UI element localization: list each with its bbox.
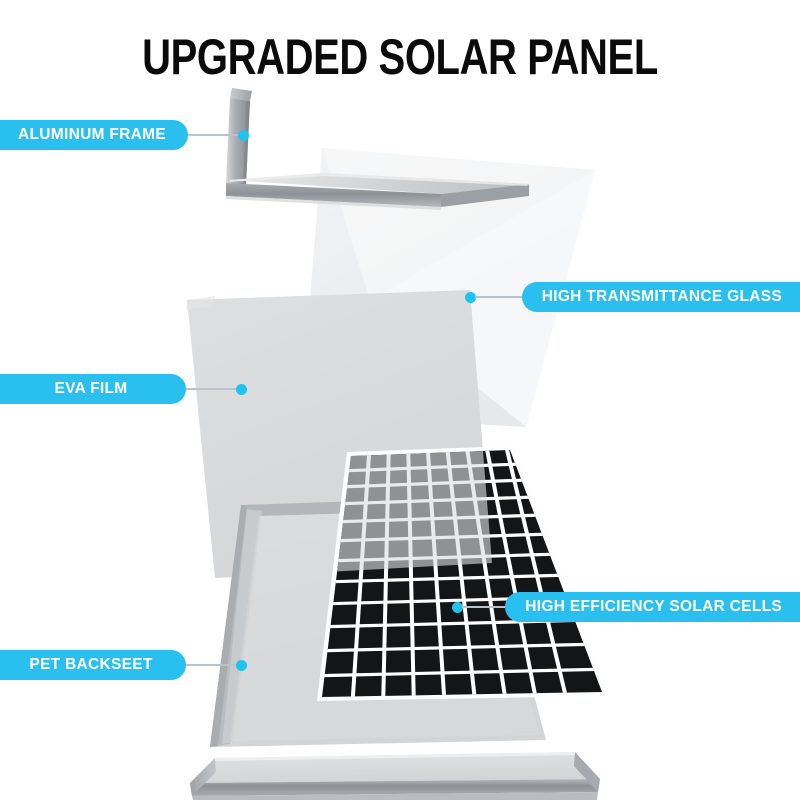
callout-label-high-transmittance-glass[interactable]: HIGH TRANSMITTANCE GLASS: [522, 282, 800, 312]
callout-connector-line: [462, 606, 505, 608]
callout-eva-film[interactable]: EVA FILM: [0, 374, 247, 404]
page-title: UPGRADED SOLAR PANEL: [80, 32, 720, 82]
callout-pet-backseet[interactable]: PET BACKSEET: [0, 650, 247, 680]
layer-aluminum-frame: [226, 88, 529, 210]
callout-label-high-efficiency-solar-cells[interactable]: HIGH EFFICIENCY SOLAR CELLS: [505, 592, 800, 622]
callout-label-eva-film[interactable]: EVA FILM: [0, 374, 186, 404]
callout-anchor-dot[interactable]: [236, 384, 247, 395]
callout-connector-line: [188, 134, 239, 136]
callout-label-aluminum-frame[interactable]: ALUMINUM FRAME: [0, 120, 188, 150]
callout-connector-line: [475, 296, 522, 298]
callout-anchor-dot[interactable]: [238, 130, 249, 141]
callout-high-efficiency-solar-cells[interactable]: HIGH EFFICIENCY SOLAR CELLS: [452, 592, 800, 622]
callout-aluminum-frame[interactable]: ALUMINUM FRAME: [0, 120, 249, 150]
callout-label-pet-backseet[interactable]: PET BACKSEET: [0, 650, 186, 680]
layer-base-frame: [190, 752, 600, 800]
callout-connector-line: [186, 388, 237, 390]
diagram-canvas: UPGRADED SOLAR PANEL ALUMINUM FRAME HIGH…: [0, 0, 800, 800]
callout-anchor-dot[interactable]: [236, 660, 247, 671]
callout-high-transmittance-glass[interactable]: HIGH TRANSMITTANCE GLASS: [465, 282, 800, 312]
layer-solar-cells: [306, 433, 614, 710]
callout-connector-line: [186, 664, 237, 666]
